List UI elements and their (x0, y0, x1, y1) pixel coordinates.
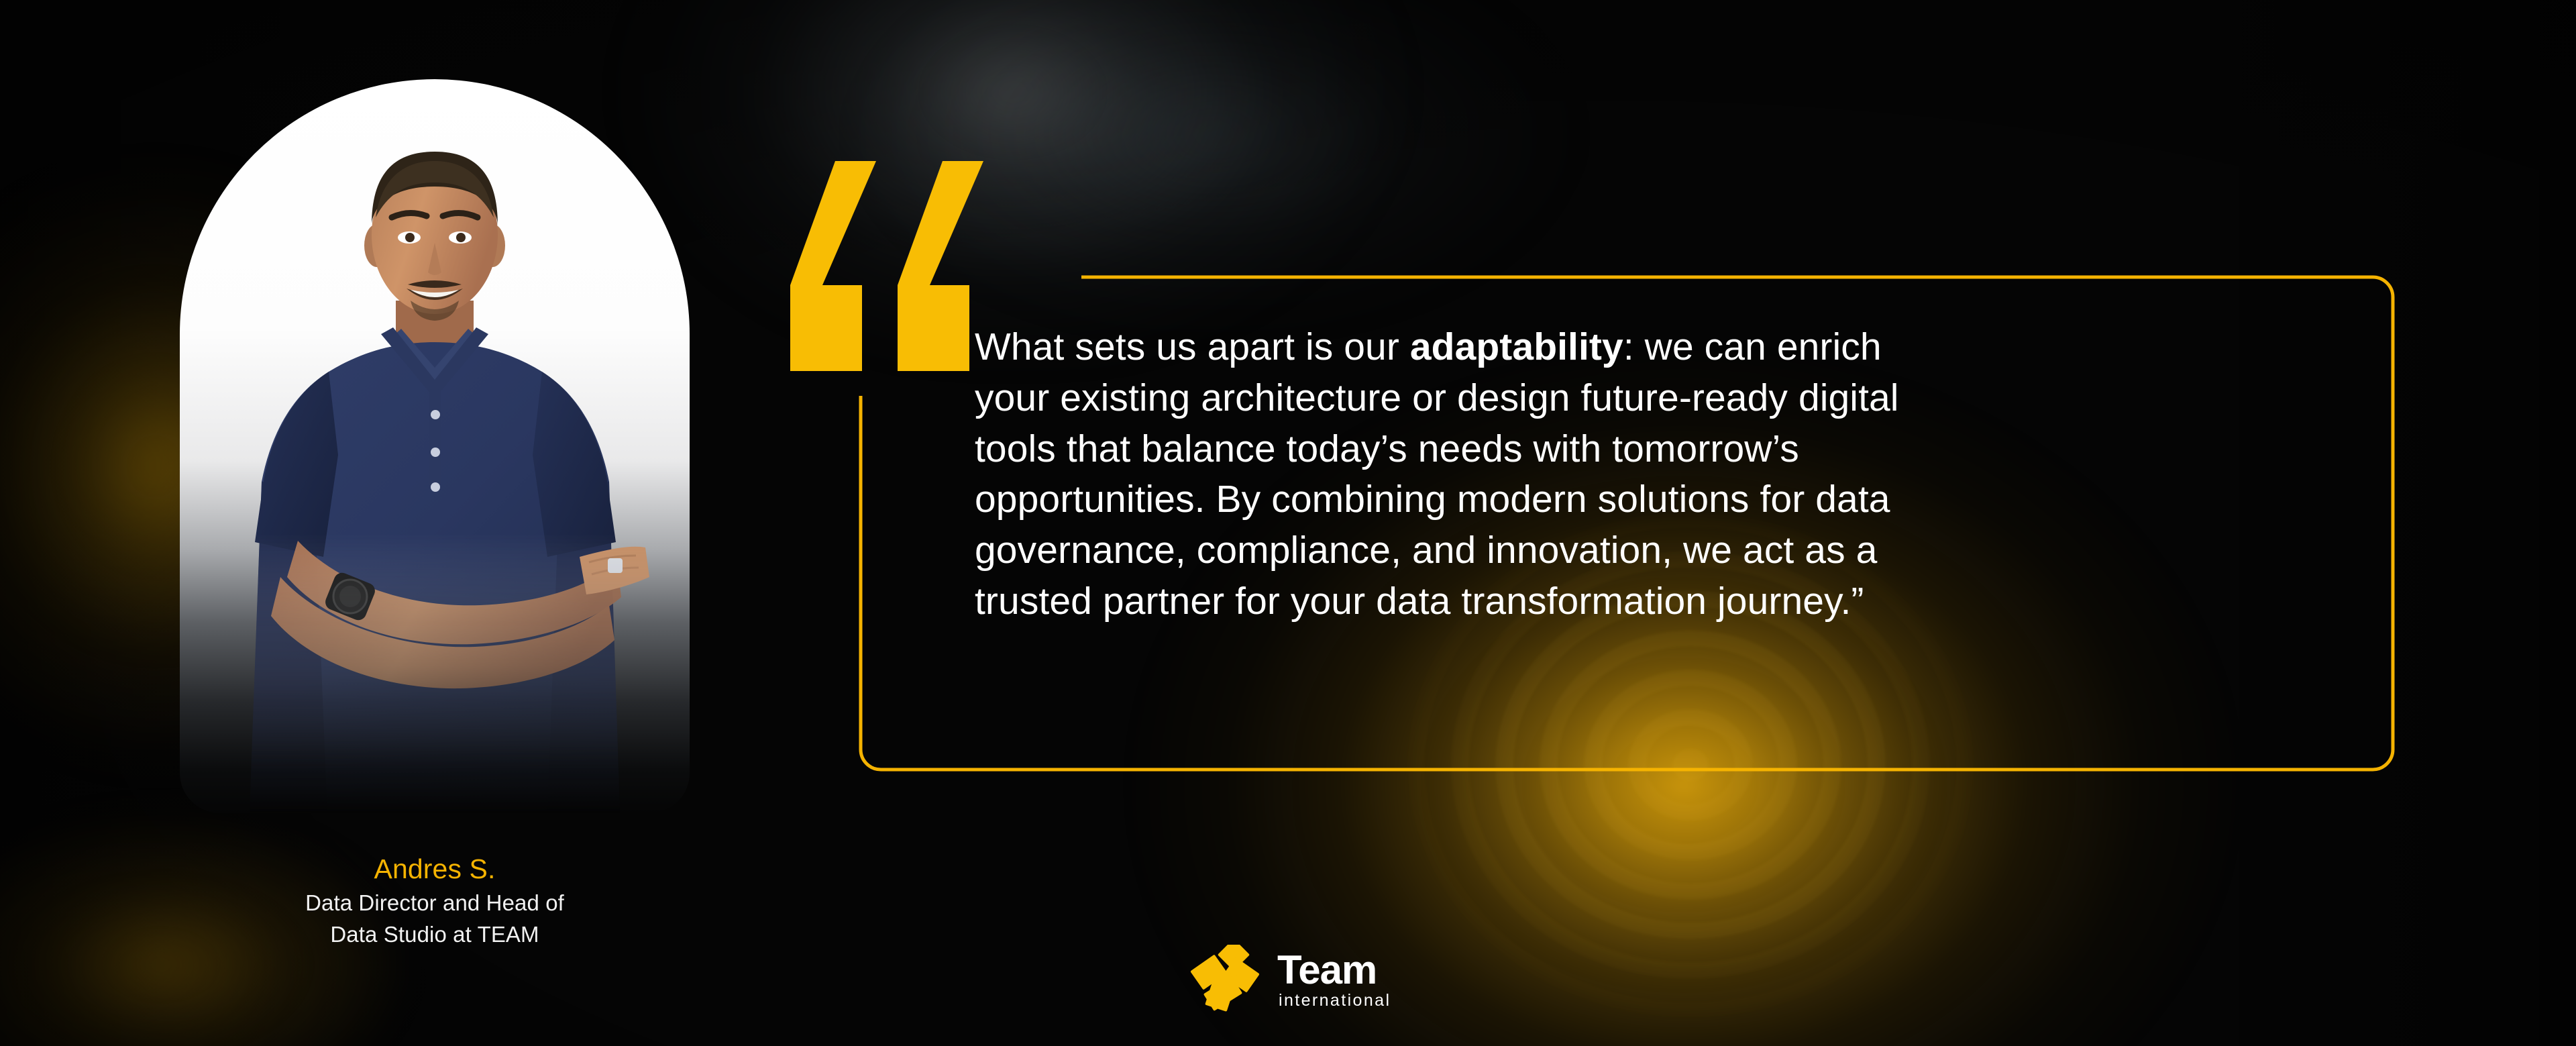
quote-line: governance, compliance, and innovation, … (975, 525, 2363, 576)
team-diamond-cross-icon (1187, 945, 1263, 1014)
quote-segment-emphasis: adaptability (1410, 325, 1623, 368)
portrait-photo (180, 79, 690, 813)
quote-block: What sets us apart is our adaptability: … (751, 161, 2408, 805)
logo-word-secondary: international (1279, 992, 1391, 1010)
speaker-name: Andres S. (180, 853, 690, 886)
quote-segment: : we can enrich (1623, 325, 1882, 368)
open-quote-icon (751, 161, 986, 376)
logo-wordmark: Team international (1277, 949, 1391, 1010)
testimonial-slide: Andres S. Data Director and Head of Data… (0, 0, 2576, 1046)
quote-line: tools that balance today’s needs with to… (975, 424, 2363, 475)
logo-word-primary: Team (1277, 951, 1391, 989)
quote-line: your existing architecture or design fut… (975, 373, 2363, 424)
portrait-frame (180, 79, 690, 813)
team-international-logo: Team international (1187, 942, 1391, 1017)
speaker-role-line-2: Data Studio at TEAM (180, 921, 690, 949)
portrait-block (180, 79, 690, 813)
quote-line: What sets us apart is our adaptability: … (975, 322, 2363, 373)
attribution: Andres S. Data Director and Head of Data… (180, 853, 690, 949)
quote-text: What sets us apart is our adaptability: … (975, 322, 2363, 627)
quote-segment: What sets us apart is our (975, 325, 1410, 368)
speaker-role-line-1: Data Director and Head of (180, 889, 690, 918)
quote-line: opportunities. By combining modern solut… (975, 474, 2363, 525)
quote-line: trusted partner for your data transforma… (975, 576, 2363, 627)
